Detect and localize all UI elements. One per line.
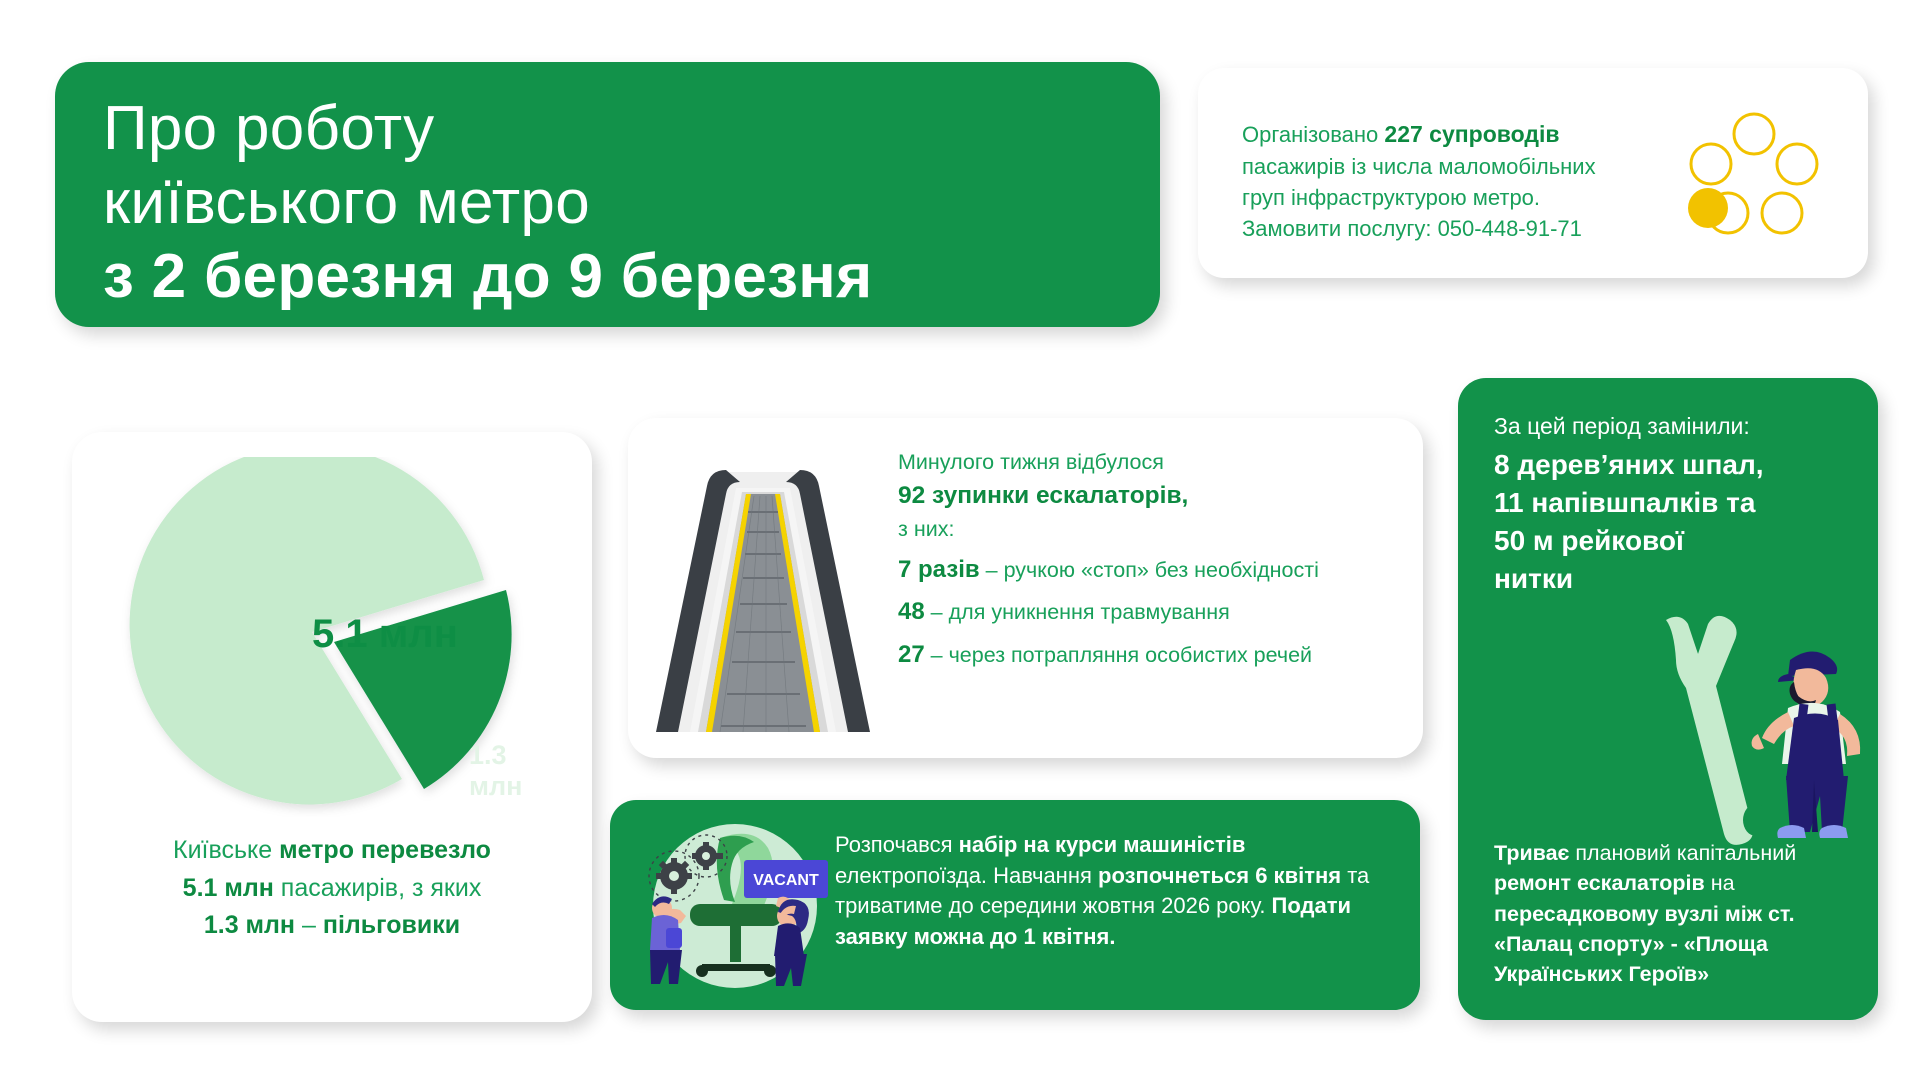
escalator-reason-1-count: 7 разів	[898, 556, 980, 583]
escalator-intro: Минулого тижня відбулося	[898, 448, 1393, 477]
escalator-reason-2-text: – для уникнення травмування	[925, 600, 1230, 624]
repairs-headline-line-4: нитки	[1494, 560, 1844, 598]
header-line-3: з 2 березня до 9 березня	[103, 242, 873, 311]
repairs-bottom-bold-3: пересадковому вузлі між ст. «Палац спорт…	[1494, 902, 1795, 987]
repairs-headline-line-3: 50 м рейкової	[1494, 522, 1844, 560]
page-title: Про роботу київського метро з 2 березня …	[55, 62, 1160, 313]
escalator-reason-2: 48 – для уникнення травмування	[898, 596, 1393, 629]
pie-caption-plain-1: Київське	[173, 836, 279, 864]
repairs-bottom-plain-2: на	[1705, 871, 1735, 895]
escort-service-card: Організовано 227 супроводів пасажирів із…	[1198, 68, 1868, 278]
repairs-headline-line-1: 8 дерев’яних шпал,	[1494, 446, 1844, 484]
escalator-illustration	[648, 432, 878, 737]
pie-caption-dash: –	[295, 911, 323, 939]
pie-caption-bold-1: метро перевезло	[279, 836, 491, 864]
pie-caption-line-2: 5.1 млн пасажирів, з яких	[72, 870, 592, 908]
escort-line-2: пасажирів із числа маломобільних	[1242, 151, 1712, 182]
escalator-subintro: з них:	[898, 515, 1393, 544]
escort-prefix: Організовано	[1242, 122, 1384, 147]
header-line-1: Про роботу	[103, 94, 434, 163]
pie-chart: 5.1 млн 1.3 млн	[112, 457, 552, 817]
pie-caption-bold-4: пільговики	[323, 911, 460, 939]
driver-courses-card: VACANT	[610, 800, 1420, 1010]
escalator-stops-card: Минулого тижня відбулося 92 зупинки еска…	[628, 418, 1423, 758]
infographic-canvas: Про роботу київського метро з 2 березня …	[0, 0, 1920, 1080]
repairs-headline: 8 дерев’яних шпал, 11 напівшпалків та 50…	[1494, 446, 1844, 598]
repairs-intro: За цей період замінили:	[1494, 410, 1844, 442]
courses-bold-2: розпочнеться 6 квітня	[1098, 863, 1341, 888]
repairs-top-block: За цей період замінили: 8 дерев’яних шпа…	[1494, 410, 1844, 599]
escalator-headline: 92 зупинки ескалаторів,	[898, 479, 1393, 512]
escort-line-1: Організовано 227 супроводів	[1242, 118, 1712, 151]
escalator-reason-3-count: 27	[898, 641, 925, 668]
wrench-icon	[1666, 616, 1753, 845]
header-card: Про роботу київського метро з 2 березня …	[55, 62, 1160, 327]
pie-caption: Київське метро перевезло 5.1 млн пасажир…	[72, 832, 592, 945]
pie-caption-bold-3: 1.3 млн	[204, 911, 295, 939]
escort-line-3: груп інфраструктурою метро.	[1242, 182, 1712, 213]
pie-caption-line-1: Київське метро перевезло	[72, 832, 592, 870]
worker-with-wrench-illustration	[1638, 608, 1873, 848]
passengers-pie-card: 5.1 млн 1.3 млн Київське метро перевезло…	[72, 432, 592, 1022]
escalator-reason-1-text: – ручкою «стоп» без необхідності	[980, 558, 1319, 582]
courses-plain-2: електропоїзда. Навчання	[835, 863, 1098, 888]
escalator-text-block: Минулого тижня відбулося 92 зупинки еска…	[898, 448, 1393, 674]
escalator-reason-1: 7 разів – ручкою «стоп» без необхідності	[898, 554, 1393, 587]
vacant-sign-label: VACANT	[753, 872, 819, 889]
accessibility-flower-icon	[1684, 112, 1824, 237]
repairs-bottom-bold-1: Триває	[1494, 841, 1569, 865]
pie-label-major: 5.1 млн	[312, 612, 458, 657]
courses-text-block: Розпочався набір на курси машиністів еле…	[835, 830, 1395, 952]
repairs-bottom-block: Триває плановий капітальний ремонт ескал…	[1494, 838, 1854, 990]
pie-label-minor: 1.3 млн	[469, 740, 552, 802]
courses-bold-1: набір на курси машиністів	[959, 832, 1246, 857]
escort-count: 227 супроводів	[1384, 121, 1559, 147]
pie-caption-plain-2: пасажирів, з яких	[274, 874, 481, 902]
escort-text-block: Організовано 227 супроводів пасажирів із…	[1242, 118, 1712, 244]
repairs-bottom-plain-1: плановий капітальний	[1569, 841, 1796, 865]
courses-plain-1: Розпочався	[835, 832, 959, 857]
escort-phone-line: Замовити послугу: 050-448-91-71	[1242, 213, 1712, 244]
repairs-bottom-bold-2: ремонт ескалаторів	[1494, 871, 1705, 895]
vacancy-chair-illustration: VACANT	[628, 812, 843, 1000]
worker-figure	[1752, 651, 1861, 838]
escalator-reason-2-count: 48	[898, 598, 925, 625]
escalator-reason-3: 27 – через потрапляння особистих речей	[898, 639, 1393, 672]
pie-caption-bold-2: 5.1 млн	[183, 874, 274, 902]
escalator-reason-3-text: – через потрапляння особистих речей	[925, 643, 1312, 667]
pie-caption-line-3: 1.3 млн – пільговики	[72, 907, 592, 945]
repairs-headline-line-2: 11 напівшпалків та	[1494, 484, 1844, 522]
track-repairs-card: За цей період замінили: 8 дерев’яних шпа…	[1458, 378, 1878, 1020]
header-line-2: київського метро	[103, 168, 590, 237]
